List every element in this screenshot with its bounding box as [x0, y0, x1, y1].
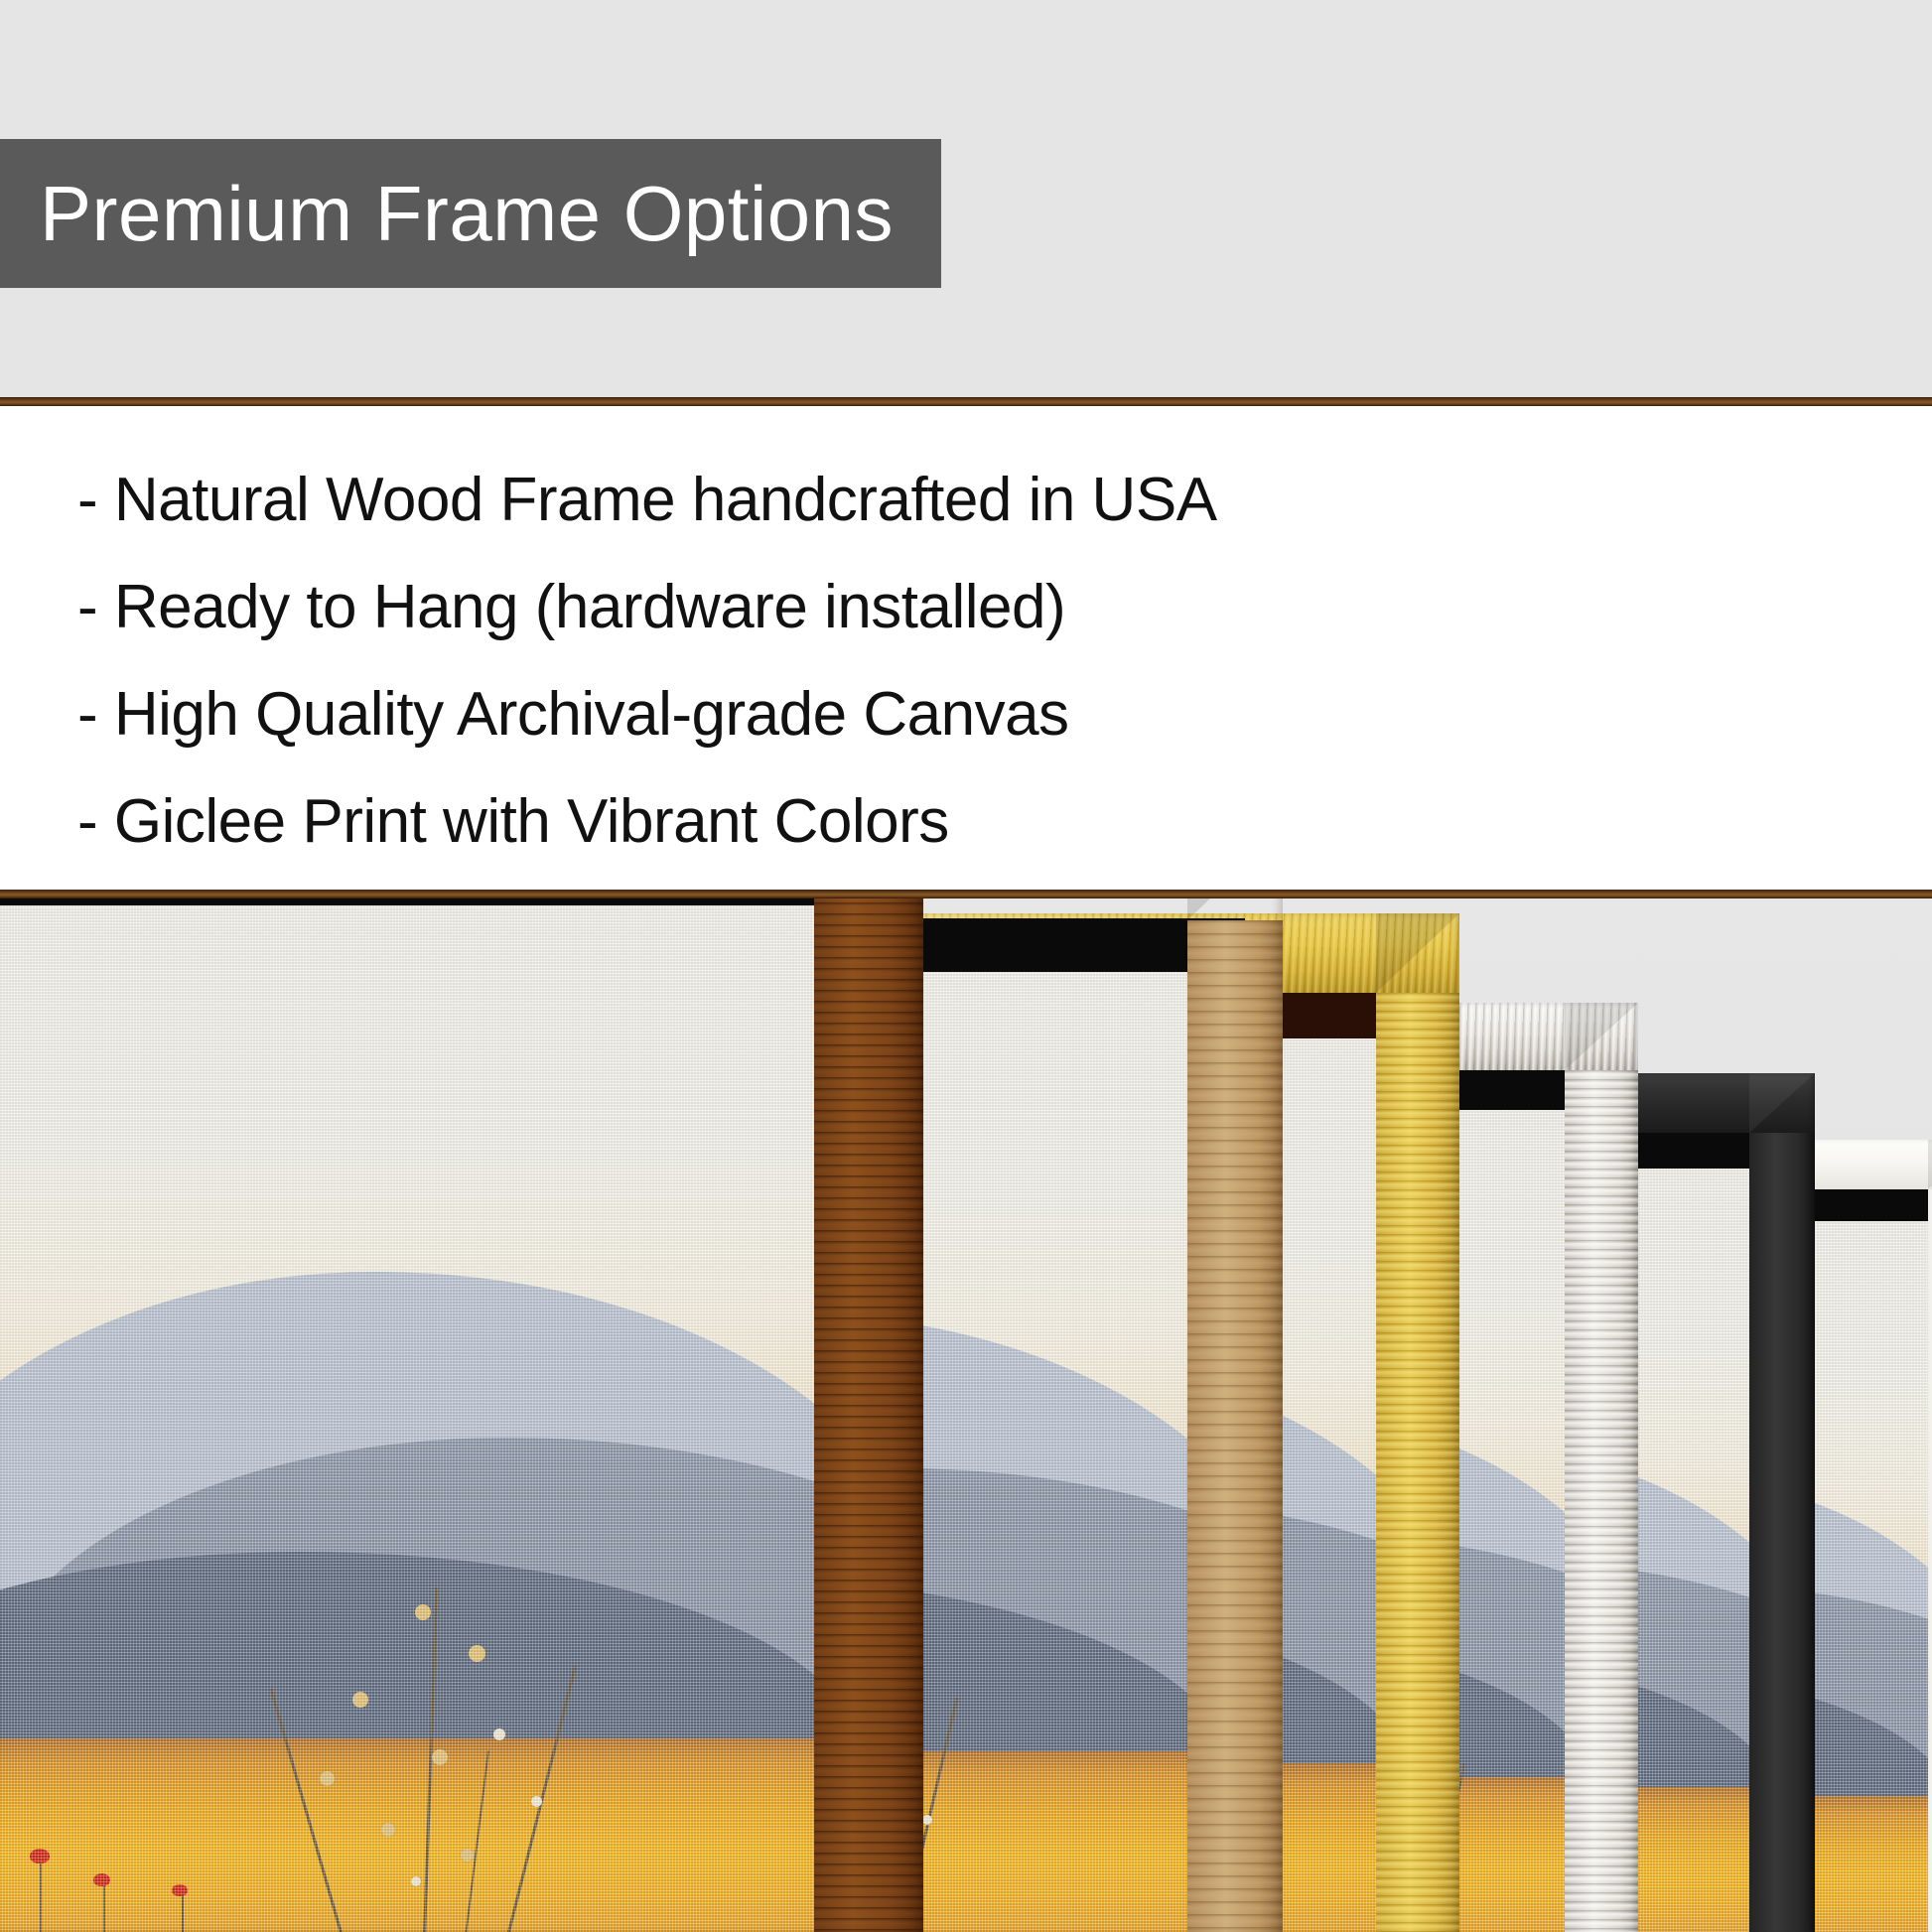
frame-moulding-right-black	[1749, 1133, 1815, 1932]
feature-bullet: - Giclee Print with Vibrant Colors	[77, 791, 949, 853]
frame-moulding-right-white	[1928, 1189, 1932, 1932]
frame-moulding-right-gold	[1376, 993, 1459, 1932]
page-title: Premium Frame Options	[0, 175, 894, 252]
frame-moulding-right-walnut	[814, 898, 923, 1932]
frame-walnut[interactable]	[0, 898, 923, 1932]
frame-inner-lip-walnut	[0, 898, 888, 905]
feature-bullet: - Ready to Hang (hardware installed)	[77, 577, 1065, 638]
divider-bottom	[0, 890, 1932, 898]
poppy-cluster	[0, 1811, 402, 1932]
header-band: Premium Frame Options	[0, 0, 1932, 397]
title-banner: Premium Frame Options	[0, 139, 941, 288]
frame-options-page: Premium Frame Options - Natural Wood Fra…	[0, 0, 1932, 1932]
frame-showcase: White Black	[0, 898, 1932, 1932]
feature-bullet: - Natural Wood Frame handcrafted in USA	[77, 470, 1217, 531]
feature-bullet: - High Quality Archival-grade Canvas	[77, 684, 1069, 746]
canvas-artwork-walnut	[0, 898, 854, 1932]
frame-moulding-right-silver	[1565, 1070, 1638, 1932]
features-panel: - Natural Wood Frame handcrafted in USA …	[0, 406, 1932, 890]
frame-moulding-right-oak	[1187, 920, 1283, 1932]
divider-top	[0, 397, 1932, 406]
